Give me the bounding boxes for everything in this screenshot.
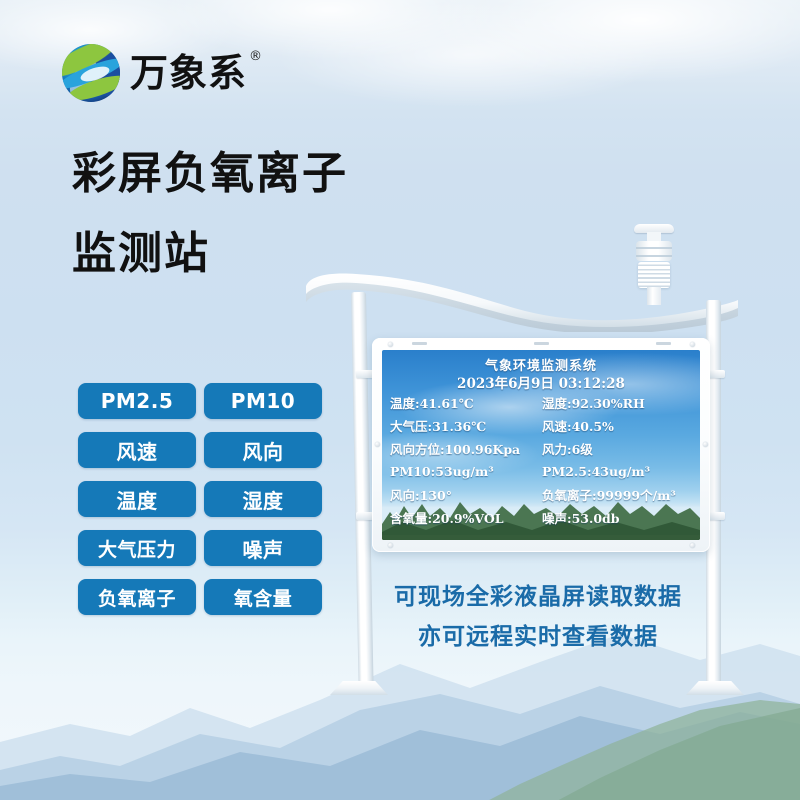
lcd-readout: 气象环境监测系统 2023年6月9日 03:12:28 温度:41.61℃ 湿度…: [382, 350, 700, 540]
page-title-line1: 彩屏负氧离子: [72, 152, 348, 196]
feature-tag-oxygen[interactable]: 氧含量: [204, 579, 322, 615]
bezel-hanger-tab: [534, 342, 549, 345]
readout-pressure: 大气压:31.36℃: [390, 416, 542, 435]
readout-anion: 负氧离子:99999个/m³: [542, 485, 694, 504]
feature-tag-grid: PM2.5 PM10 风速 风向 温度 湿度 大气压力 噪声 负氧离子 氧含量: [78, 383, 318, 615]
product-poster: 万象系 ® 彩屏负氧离子 监测站 PM2.5 PM10 风速 风向 温度 湿度 …: [0, 0, 800, 800]
readout-humidity: 湿度:92.30%RH: [542, 393, 694, 412]
feature-tag-temperature[interactable]: 温度: [78, 481, 196, 517]
readout-row: 风向:130° 负氧离子:99999个/m³: [390, 483, 694, 506]
feature-tag-noise[interactable]: 噪声: [204, 530, 322, 566]
feature-tag-windspeed[interactable]: 风速: [78, 432, 196, 468]
readout-row: 温度:41.61℃ 湿度:92.30%RH: [390, 391, 694, 414]
readout-oxygen: 含氧量:20.9%VOL: [390, 508, 542, 527]
lcd-display-panel: 气象环境监测系统 2023年6月9日 03:12:28 温度:41.61℃ 湿度…: [372, 338, 710, 552]
lcd-screen[interactable]: 气象环境监测系统 2023年6月9日 03:12:28 温度:41.61℃ 湿度…: [382, 350, 700, 540]
bezel-screw: [703, 442, 708, 447]
wave-canopy-icon: [300, 272, 740, 332]
feature-tag-pm25[interactable]: PM2.5: [78, 383, 196, 419]
support-pole-left: [351, 292, 374, 692]
readout-wind-force: 风力:6级: [542, 439, 694, 458]
page-title: 彩屏负氧离子 监测站: [72, 152, 348, 276]
pole-base-right: [686, 681, 744, 695]
bezel-screw: [375, 442, 380, 447]
page-title-line2: 监测站: [72, 232, 348, 276]
readout-pm25: PM2.5:43ug/m³: [542, 464, 694, 479]
registered-mark: ®: [249, 50, 263, 63]
lcd-datetime: 2023年6月9日 03:12:28: [382, 372, 700, 392]
readout-pm10: PM10:53ug/m³: [390, 464, 542, 479]
feature-caption-line2: 亦可远程实时查看数据: [378, 626, 698, 649]
readout-row: 大气压:31.36℃ 风速:40.5%: [390, 414, 694, 437]
bezel-screw: [388, 342, 393, 347]
mountain-layer-near: [0, 690, 800, 800]
feature-caption: 可现场全彩液晶屏读取数据 亦可远程实时查看数据: [378, 586, 698, 649]
bezel-screw: [690, 342, 695, 347]
readout-row: PM10:53ug/m³ PM2.5:43ug/m³: [390, 460, 694, 483]
readout-windspeed: 风速:40.5%: [542, 416, 694, 435]
bezel-screw: [388, 543, 393, 548]
forest-ridge: [0, 700, 800, 800]
feature-tag-pm10[interactable]: PM10: [204, 383, 322, 419]
feature-tag-winddirection[interactable]: 风向: [204, 432, 322, 468]
feature-caption-line1: 可现场全彩液晶屏读取数据: [378, 586, 698, 609]
feature-tag-pressure[interactable]: 大气压力: [78, 530, 196, 566]
ultrasonic-weather-sensor-icon: [632, 224, 676, 304]
readout-noise: 噪声:53.0db: [542, 508, 694, 527]
feature-tag-humidity[interactable]: 湿度: [204, 481, 322, 517]
readout-wind-bearing: 风向方位:100.96Kpa: [390, 439, 542, 458]
lcd-readout-rows: 温度:41.61℃ 湿度:92.30%RH 大气压:31.36℃ 风速:40.5…: [390, 391, 694, 529]
mountain-layer-mid: [0, 648, 800, 800]
readout-wind-direction: 风向:130°: [390, 485, 542, 504]
bezel-screw: [690, 543, 695, 548]
bezel-hanger-tab: [656, 342, 671, 345]
readout-row: 含氧量:20.9%VOL 噪声:53.0db: [390, 506, 694, 529]
brand-name-text: 万象系: [130, 51, 247, 95]
globe-swirl-icon: [62, 44, 120, 102]
bezel-hanger-tab: [412, 342, 427, 345]
readout-row: 风向方位:100.96Kpa 风力:6级: [390, 437, 694, 460]
readout-temperature: 温度:41.61℃: [390, 393, 542, 412]
brand-logo: 万象系 ®: [62, 44, 247, 102]
feature-tag-anion[interactable]: 负氧离子: [78, 579, 196, 615]
pole-base-left: [330, 681, 388, 695]
brand-name: 万象系 ®: [130, 54, 247, 92]
